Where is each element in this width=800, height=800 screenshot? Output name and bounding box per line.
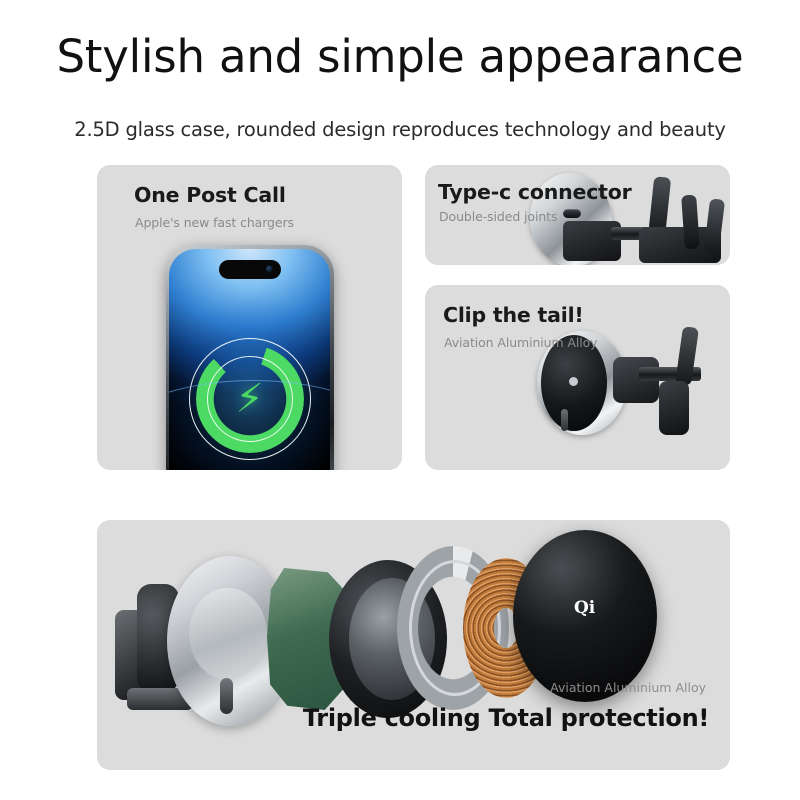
- card-subtitle-clip-the-tail: Aviation Aluminium Alloy: [444, 335, 597, 350]
- vent-clip-blade-3: [704, 198, 725, 251]
- screen-reflection-arc-upper: [169, 380, 330, 471]
- product-feature-page: Stylish and simple appearance 2.5D glass…: [0, 0, 800, 800]
- page-subheadline: 2.5D glass case, rounded design reproduc…: [0, 118, 800, 141]
- card-title-triple-cooling: Triple cooling Total protection!: [303, 704, 709, 732]
- exploded-housing-center: [189, 588, 267, 680]
- charger-cable-slot: [561, 409, 568, 431]
- card-title-one-post-call: One Post Call: [134, 183, 286, 207]
- feature-card-one-post-call: One Post Call Apple's new fast chargers …: [97, 165, 402, 470]
- card-subtitle-type-c-connector: Double-sided joints: [439, 209, 557, 224]
- feature-card-type-c-connector: Type-c connector Double-sided joints: [425, 165, 730, 265]
- iphone-mockup: ⚡ 90%: [166, 245, 334, 470]
- page-headline: Stylish and simple appearance: [0, 33, 800, 80]
- feature-card-clip-the-tail: Clip the tail! Aviation Aluminium Alloy: [425, 285, 730, 470]
- phone-screen: ⚡ 90%: [169, 249, 330, 471]
- type-c-port-icon: [563, 209, 581, 218]
- card-title-clip-the-tail: Clip the tail!: [443, 303, 584, 327]
- feature-card-triple-cooling: Qi Aviation Aluminium Alloy Triple cooli…: [97, 520, 730, 770]
- qi-logo: Qi: [574, 598, 604, 624]
- vent-clip-blade-2: [681, 195, 700, 250]
- card-subtitle-one-post-call: Apple's new fast chargers: [135, 215, 294, 230]
- card-subtitle-triple-cooling: Aviation Aluminium Alloy: [550, 680, 706, 695]
- vent-clip-body: [659, 381, 689, 435]
- charger-center-dot: [569, 377, 578, 386]
- exploded-housing-slot: [220, 678, 233, 714]
- card-title-type-c-connector: Type-c connector: [438, 180, 632, 204]
- dynamic-island-notch: [219, 260, 281, 279]
